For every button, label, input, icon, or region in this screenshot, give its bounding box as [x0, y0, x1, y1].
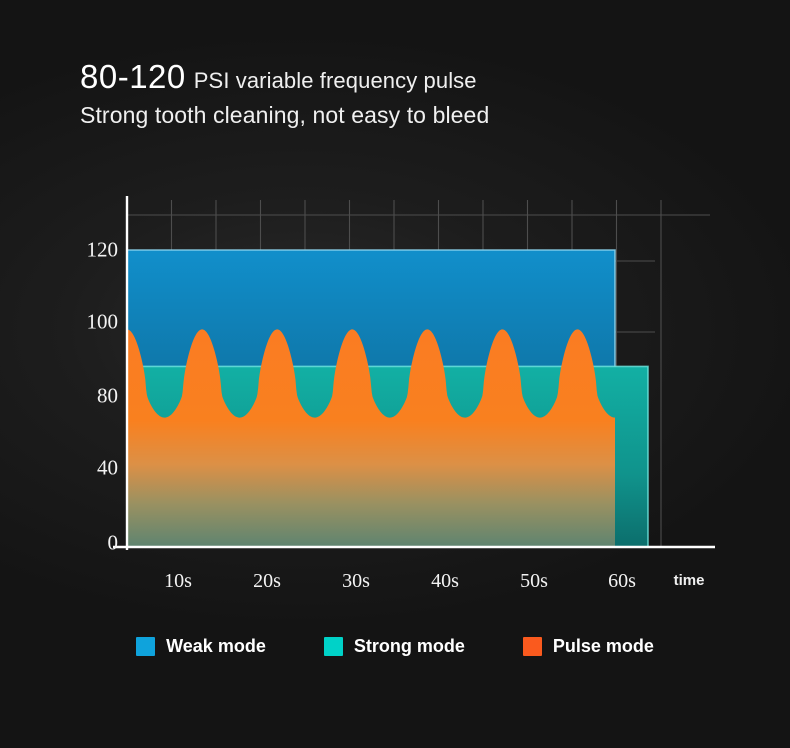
headline-line-1-text: PSI variable frequency pulse [194, 68, 477, 94]
y-tick-label: 120 [87, 238, 119, 263]
x-axis-labels: 10s20s30s40s50s60s [0, 565, 790, 599]
x-tick-label: 10s [164, 570, 192, 593]
y-tick-label: 0 [108, 531, 119, 556]
chart-series-layer [127, 250, 648, 547]
x-tick-label: 40s [431, 570, 459, 593]
y-tick-label: 100 [87, 310, 119, 335]
legend-swatch-strong-mode-icon [324, 637, 343, 656]
x-tick-label: 60s [608, 570, 636, 593]
y-axis-labels: 12010080400 [70, 170, 118, 570]
legend-item-strong-mode[interactable]: Strong mode [324, 636, 465, 657]
y-tick-label: 40 [97, 456, 118, 481]
headline-line-1: 80-120 PSI variable frequency pulse [80, 58, 489, 96]
x-axis-title: time [674, 572, 705, 589]
headline-line-2: Strong tooth cleaning, not easy to bleed [80, 102, 489, 129]
headline-block: 80-120 PSI variable frequency pulse Stro… [80, 58, 489, 129]
legend-swatch-pulse-mode-icon [523, 637, 542, 656]
pressure-chart [0, 170, 790, 610]
pressure-range-value: 80-120 [80, 58, 186, 96]
y-tick-label: 80 [97, 384, 118, 409]
x-tick-label: 50s [520, 570, 548, 593]
legend-item-pulse-mode[interactable]: Pulse mode [523, 636, 654, 657]
chart-canvas [0, 170, 790, 610]
legend-swatch-weak-mode-icon [136, 637, 155, 656]
x-tick-label: 30s [342, 570, 370, 593]
legend-label: Strong mode [354, 636, 465, 657]
chart-legend: Weak modeStrong modePulse mode [0, 636, 790, 657]
legend-label: Weak mode [166, 636, 266, 657]
x-tick-label: 20s [253, 570, 281, 593]
legend-item-weak-mode[interactable]: Weak mode [136, 636, 266, 657]
legend-label: Pulse mode [553, 636, 654, 657]
chart-page: 80-120 PSI variable frequency pulse Stro… [0, 0, 790, 748]
